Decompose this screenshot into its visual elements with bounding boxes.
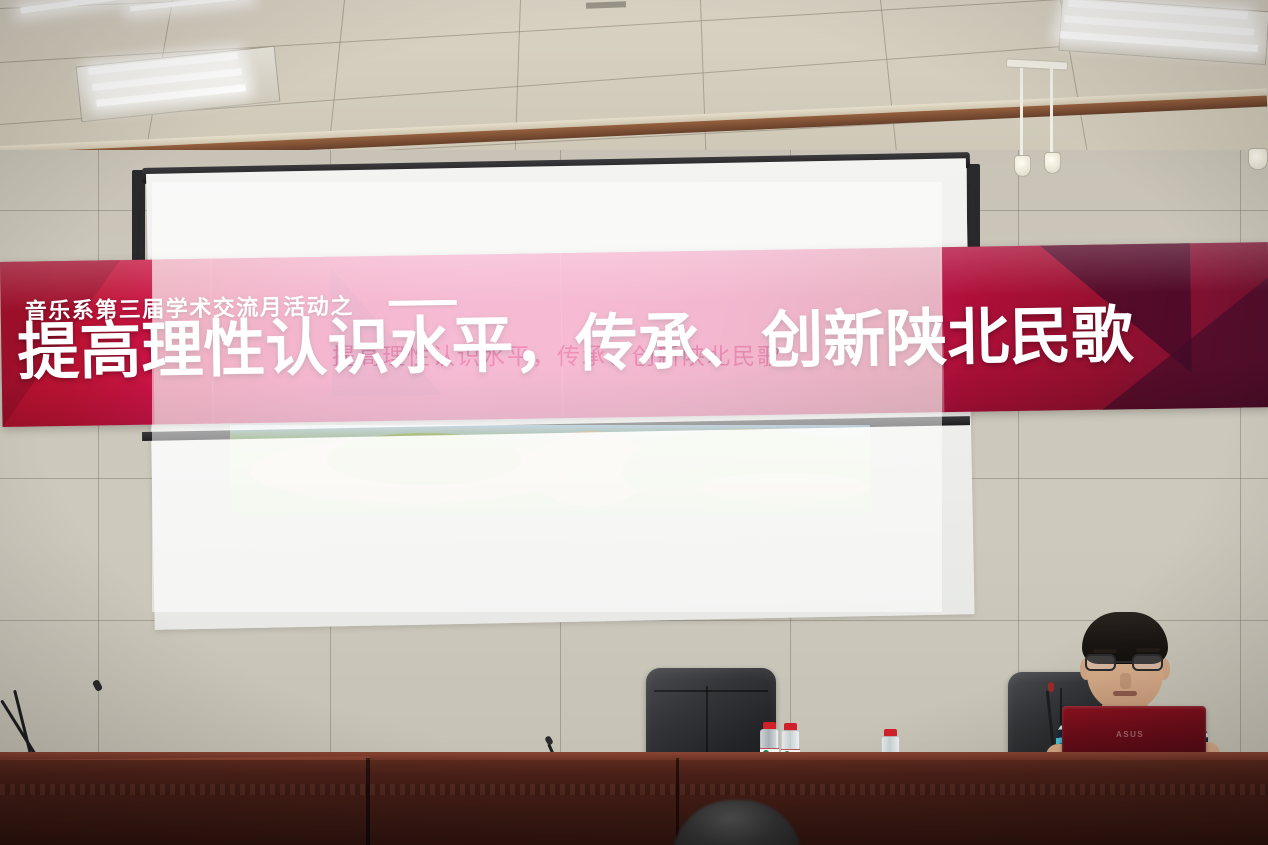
wall-panel-line xyxy=(98,150,99,790)
lecture-hall-photo: 音乐系第三届学术交流月活动之 提高理性认识水平，传承、创新陕北民歌 提高理性认识… xyxy=(0,0,1268,845)
eyeglasses-icon xyxy=(1085,654,1165,672)
lamp-cord xyxy=(1020,68,1023,158)
desk-front-panel xyxy=(0,760,1268,845)
pendant-lamp-icon[interactable] xyxy=(1248,148,1268,170)
banner-sheen xyxy=(0,242,1268,427)
fluorescent-tube-icon xyxy=(20,0,130,14)
glasses-lens-left xyxy=(1085,654,1116,671)
pendant-lamp-icon[interactable] xyxy=(1014,155,1031,177)
speaker-eyebrow-left xyxy=(1093,649,1117,653)
speaker-nose xyxy=(1120,673,1131,689)
lamp-cord xyxy=(1050,66,1053,154)
chair-center[interactable] xyxy=(646,668,776,764)
laptop-brand-logo: ASUS xyxy=(1116,730,1144,739)
glasses-bridge xyxy=(1116,661,1134,663)
event-banner: 音乐系第三届学术交流月活动之 提高理性认识水平，传承、创新陕北民歌 xyxy=(0,242,1268,427)
chair-seam xyxy=(654,690,768,692)
desk-carved-molding xyxy=(0,784,1268,795)
ceiling-duct xyxy=(586,1,626,8)
speaker-eyebrow-right xyxy=(1136,648,1160,652)
speaker-mouth xyxy=(1113,691,1137,696)
chair-seam xyxy=(706,686,708,756)
desk-panel-seam xyxy=(366,758,370,845)
pendant-lamp-icon[interactable] xyxy=(1044,152,1061,174)
glasses-lens-right xyxy=(1132,654,1163,671)
